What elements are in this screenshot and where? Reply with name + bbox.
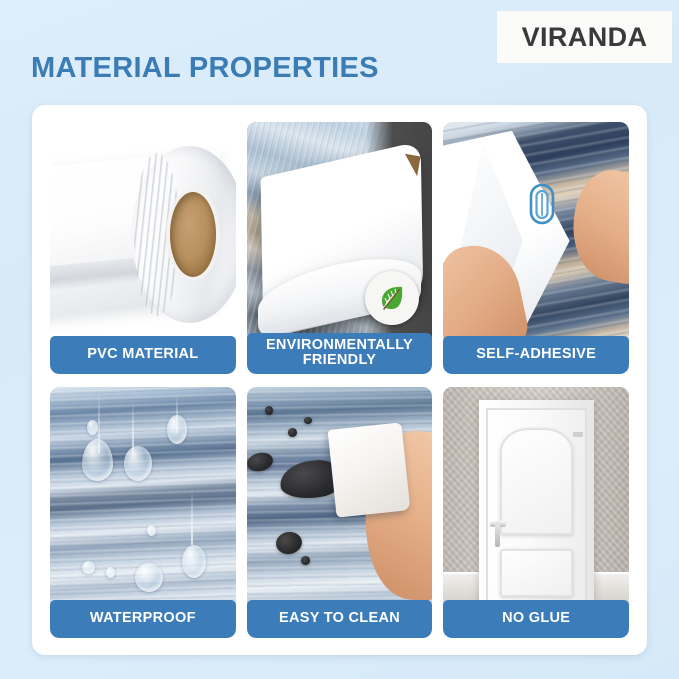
door-panel-top: [500, 428, 573, 535]
waterproof-image: [50, 387, 236, 608]
feature-card-self-adhesive: SELF-ADHESIVE: [443, 122, 629, 374]
stain-dot-2: [288, 428, 297, 437]
door-room-illustration: [443, 387, 629, 608]
feature-label-self-adhesive: SELF-ADHESIVE: [443, 336, 629, 374]
water-droplet-3: [167, 415, 187, 444]
door-handle-plate: [495, 521, 499, 547]
waterproof-illustration: [50, 387, 236, 608]
self-adhesive-image: [443, 122, 629, 343]
feature-card-waterproof: WATERPROOF: [50, 387, 236, 639]
feature-label-waterproof: WATERPROOF: [50, 600, 236, 638]
features-grid: PVC MATERIAL: [50, 122, 629, 638]
pvc-material-image: [50, 122, 236, 343]
pvc-cardboard-core: [170, 192, 216, 277]
droplet-trail-2: [132, 400, 134, 453]
paperclip-icon: [527, 182, 557, 226]
environmentally-friendly-image: [247, 122, 433, 340]
door-hinge: [573, 432, 583, 437]
easy-to-clean-image: [247, 387, 433, 608]
water-droplet-7: [82, 561, 95, 574]
water-droplet-5: [182, 545, 206, 578]
feature-card-pvc-material: PVC MATERIAL: [50, 122, 236, 374]
feature-card-environmentally-friendly: ENVIRONMENTALLY FRIENDLY: [247, 122, 433, 374]
easy-to-clean-illustration: [247, 387, 433, 608]
self-adhesive-illustration: [443, 122, 629, 343]
feature-card-easy-to-clean: EASY TO CLEAN: [247, 387, 433, 639]
stain-dot-5: [301, 556, 310, 565]
feature-label-environmentally-friendly: ENVIRONMENTALLY FRIENDLY: [247, 333, 433, 373]
feature-label-no-glue: NO GLUE: [443, 600, 629, 638]
water-droplet-1: [82, 439, 114, 481]
leaf-icon: [375, 281, 409, 315]
white-door: [486, 408, 587, 607]
door-handle: [490, 521, 506, 547]
peeling-mural-illustration: [247, 122, 433, 340]
features-panel: PVC MATERIAL: [32, 105, 647, 655]
feature-label-pvc-material: PVC MATERIAL: [50, 336, 236, 374]
stain-dot-4: [304, 417, 311, 424]
pvc-roll-illustration: [50, 122, 236, 343]
pvc-roll: [132, 146, 236, 322]
door-panel-bottom: [500, 549, 573, 597]
door-frame: [479, 400, 594, 607]
brand-name: VIRANDA: [522, 22, 648, 53]
cleaning-cloth: [328, 423, 411, 518]
feature-card-no-glue: NO GLUE: [443, 387, 629, 639]
water-droplet-6: [135, 563, 163, 592]
feature-label-easy-to-clean: EASY TO CLEAN: [247, 600, 433, 638]
brand-logo: VIRANDA: [497, 11, 672, 63]
no-glue-image: [443, 387, 629, 608]
page-title: MATERIAL PROPERTIES: [31, 52, 379, 85]
droplet-trail-4: [191, 488, 193, 545]
stain-dot-3: [265, 406, 272, 415]
